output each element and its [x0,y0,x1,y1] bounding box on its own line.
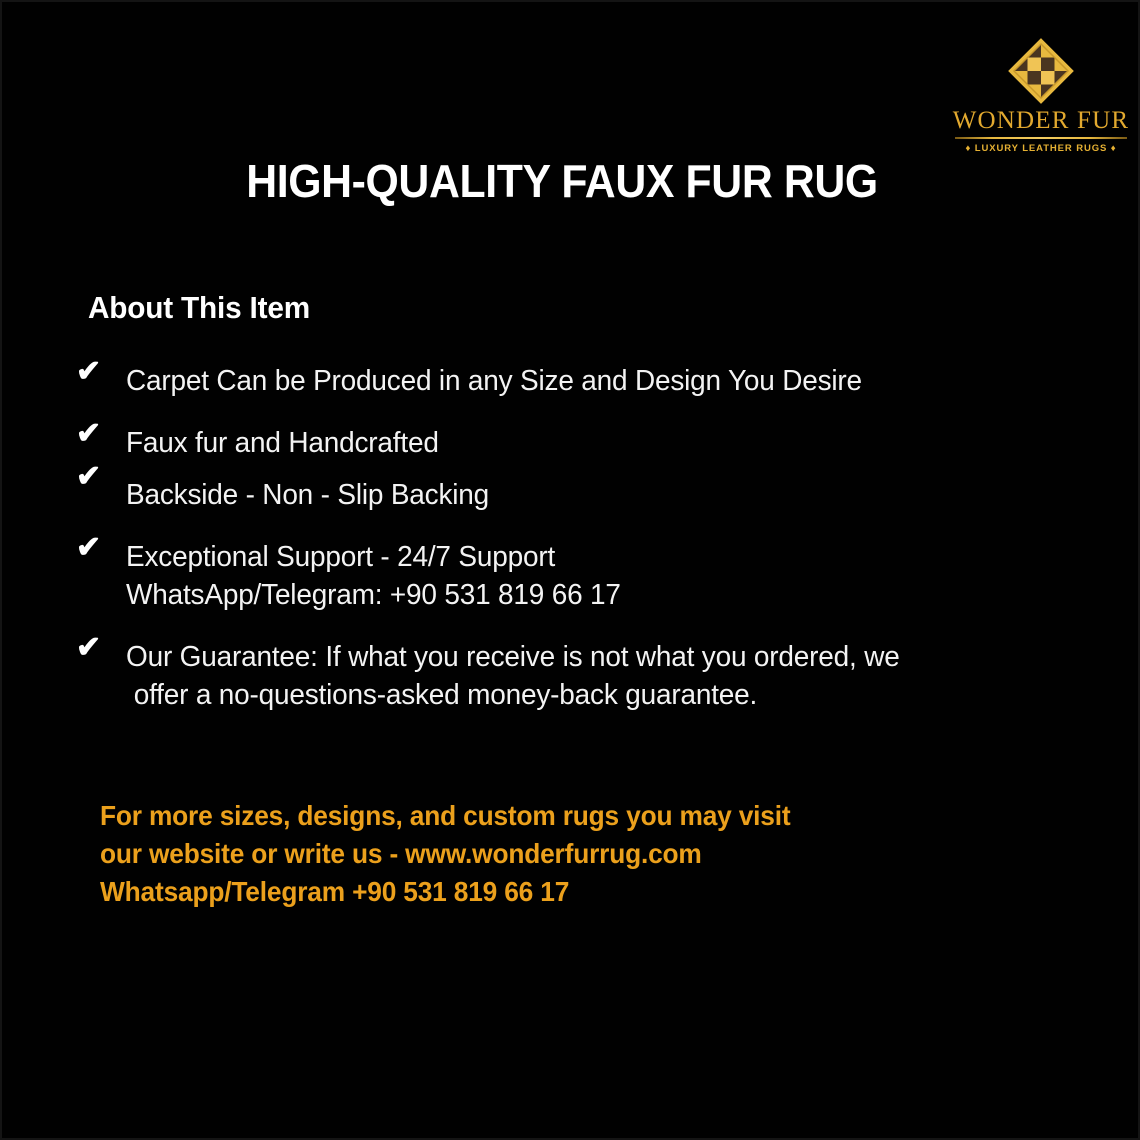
logo-divider [955,137,1127,139]
list-item: ✔ Exceptional Support - 24/7 Support Wha… [72,538,1072,614]
list-item-line1: Backside - Non - Slip Backing [126,479,489,511]
brand-wordmark: WONDER FUR [950,108,1132,134]
footer-line-3-whatsapp[interactable]: Whatsapp/Telegram +90 531 819 66 17 [100,873,1002,911]
footer-line-2-website[interactable]: our website or write us - www.wonderfurr… [100,835,1002,873]
diamond-checker-logo-icon [950,36,1132,106]
list-item-text: Backside - Non - Slip Backing [126,476,1039,514]
brand-tagline: ♦ LUXURY LEATHER RUGS ♦ [950,143,1132,154]
list-item: ✔ Faux fur and Handcrafted [72,424,1072,462]
list-item-text: Our Guarantee: If what you receive is no… [126,638,1039,714]
checkmark-icon: ✔ [76,357,101,387]
section-heading-about-this-item: About This Item [88,290,310,326]
list-item-line1: Faux fur and Handcrafted [126,427,439,459]
list-item-text: Carpet Can be Produced in any Size and D… [126,362,1039,400]
product-info-card: WONDER FUR ♦ LUXURY LEATHER RUGS ♦ HIGH-… [0,0,1140,1140]
brand-logo[interactable]: WONDER FUR ♦ LUXURY LEATHER RUGS ♦ [950,36,1132,154]
list-item-text: Exceptional Support - 24/7 Support Whats… [126,538,1039,614]
checkmark-icon: ✔ [76,533,101,563]
list-item-line2: WhatsApp/Telegram: +90 531 819 66 17 [126,576,1039,614]
footer-line-1: For more sizes, designs, and custom rugs… [100,797,1002,835]
list-item-text: Faux fur and Handcrafted [126,424,1039,462]
list-item: ✔ Carpet Can be Produced in any Size and… [72,362,1072,400]
checkmark-icon: ✔ [76,462,101,492]
list-item-line2: offer a no-questions-asked money-back gu… [126,676,1039,714]
feature-list: ✔ Carpet Can be Produced in any Size and… [72,362,1072,742]
checkmark-icon: ✔ [76,419,101,449]
checkmark-icon: ✔ [76,633,101,663]
list-item-line1: Exceptional Support - 24/7 Support [126,541,555,573]
list-item: ✔ Our Guarantee: If what you receive is … [72,638,1072,714]
page-title: HIGH-QUALITY FAUX FUR RUG [41,154,1083,208]
list-item-line1: Our Guarantee: If what you receive is no… [126,641,900,673]
contact-footer: For more sizes, designs, and custom rugs… [100,797,1060,911]
list-item-line1: Carpet Can be Produced in any Size and D… [126,365,862,397]
list-item: ✔ Backside - Non - Slip Backing [72,476,1072,514]
